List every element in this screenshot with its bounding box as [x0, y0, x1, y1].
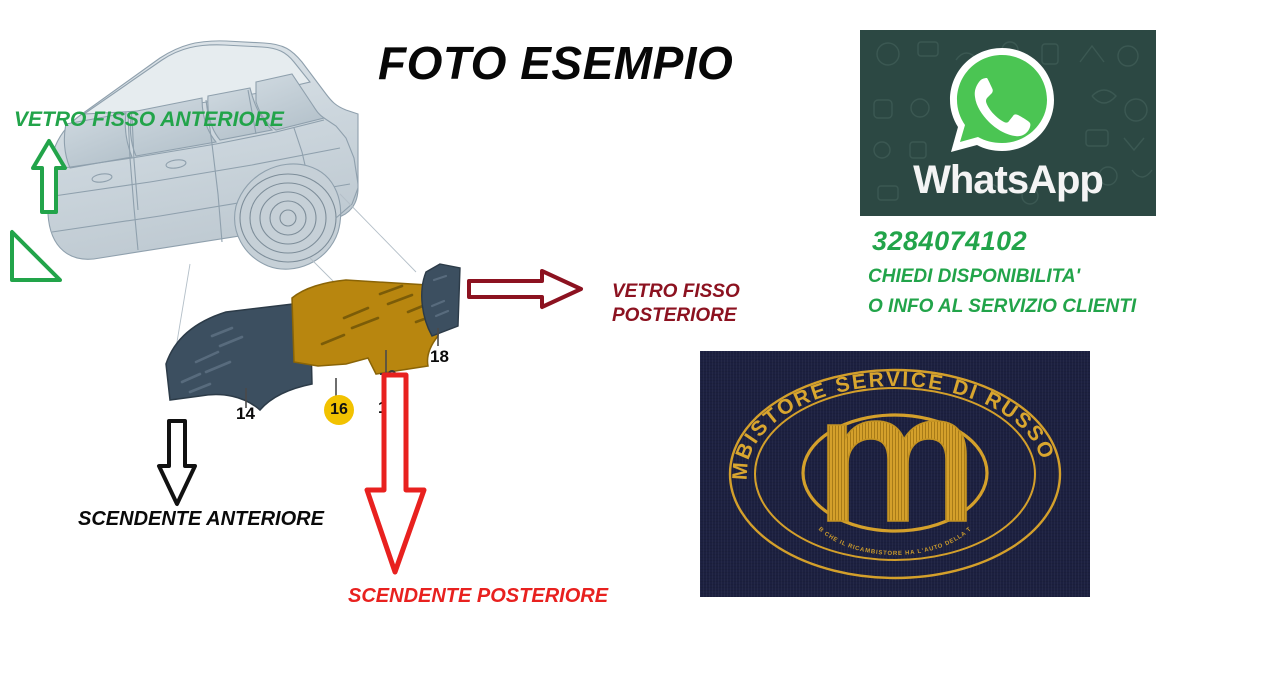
company-logo: MRICAMBISTORE SERVICE DI RUSSO MARCO IL … — [700, 351, 1090, 597]
part-number-18: 18 — [430, 347, 449, 367]
part-number-14: 14 — [236, 404, 255, 424]
page-title: FOTO ESEMPIO — [378, 36, 798, 90]
contact-phone-number[interactable]: 3284074102 — [872, 226, 1027, 257]
part-number-16-badge: 16 — [324, 395, 354, 425]
monogram-m — [828, 421, 966, 521]
triangle-icon — [8, 228, 64, 284]
label-vetro-fisso-posteriore: VETRO FISSO POSTERIORE — [612, 280, 740, 328]
label-scendente-anteriore: SCENDENTE ANTERIORE — [78, 508, 324, 532]
arrow-up-icon — [30, 138, 68, 216]
whatsapp-phone-bubble-icon — [942, 42, 1062, 160]
label-scendente-posteriore: SCENDENTE POSTERIORE — [348, 585, 608, 609]
contact-availability-line: CHIEDI DISPONIBILITA' — [868, 266, 1080, 288]
whatsapp-wordmark: WhatsApp — [860, 158, 1156, 203]
arrow-right-icon — [466, 268, 584, 310]
example-photo-canvas: 14 16 17 18 FOTO ESEMPIO VETRO FISSO ANT… — [0, 0, 1264, 678]
arrow-down-icon — [156, 418, 198, 508]
whatsapp-banner[interactable]: WhatsApp — [860, 30, 1156, 216]
contact-customer-service-line: O INFO AL SERVIZIO CLIENTI — [868, 296, 1136, 318]
label-vetro-fisso-anteriore: VETRO FISSO ANTERIORE — [14, 108, 284, 133]
arrow-down-icon — [362, 372, 430, 577]
